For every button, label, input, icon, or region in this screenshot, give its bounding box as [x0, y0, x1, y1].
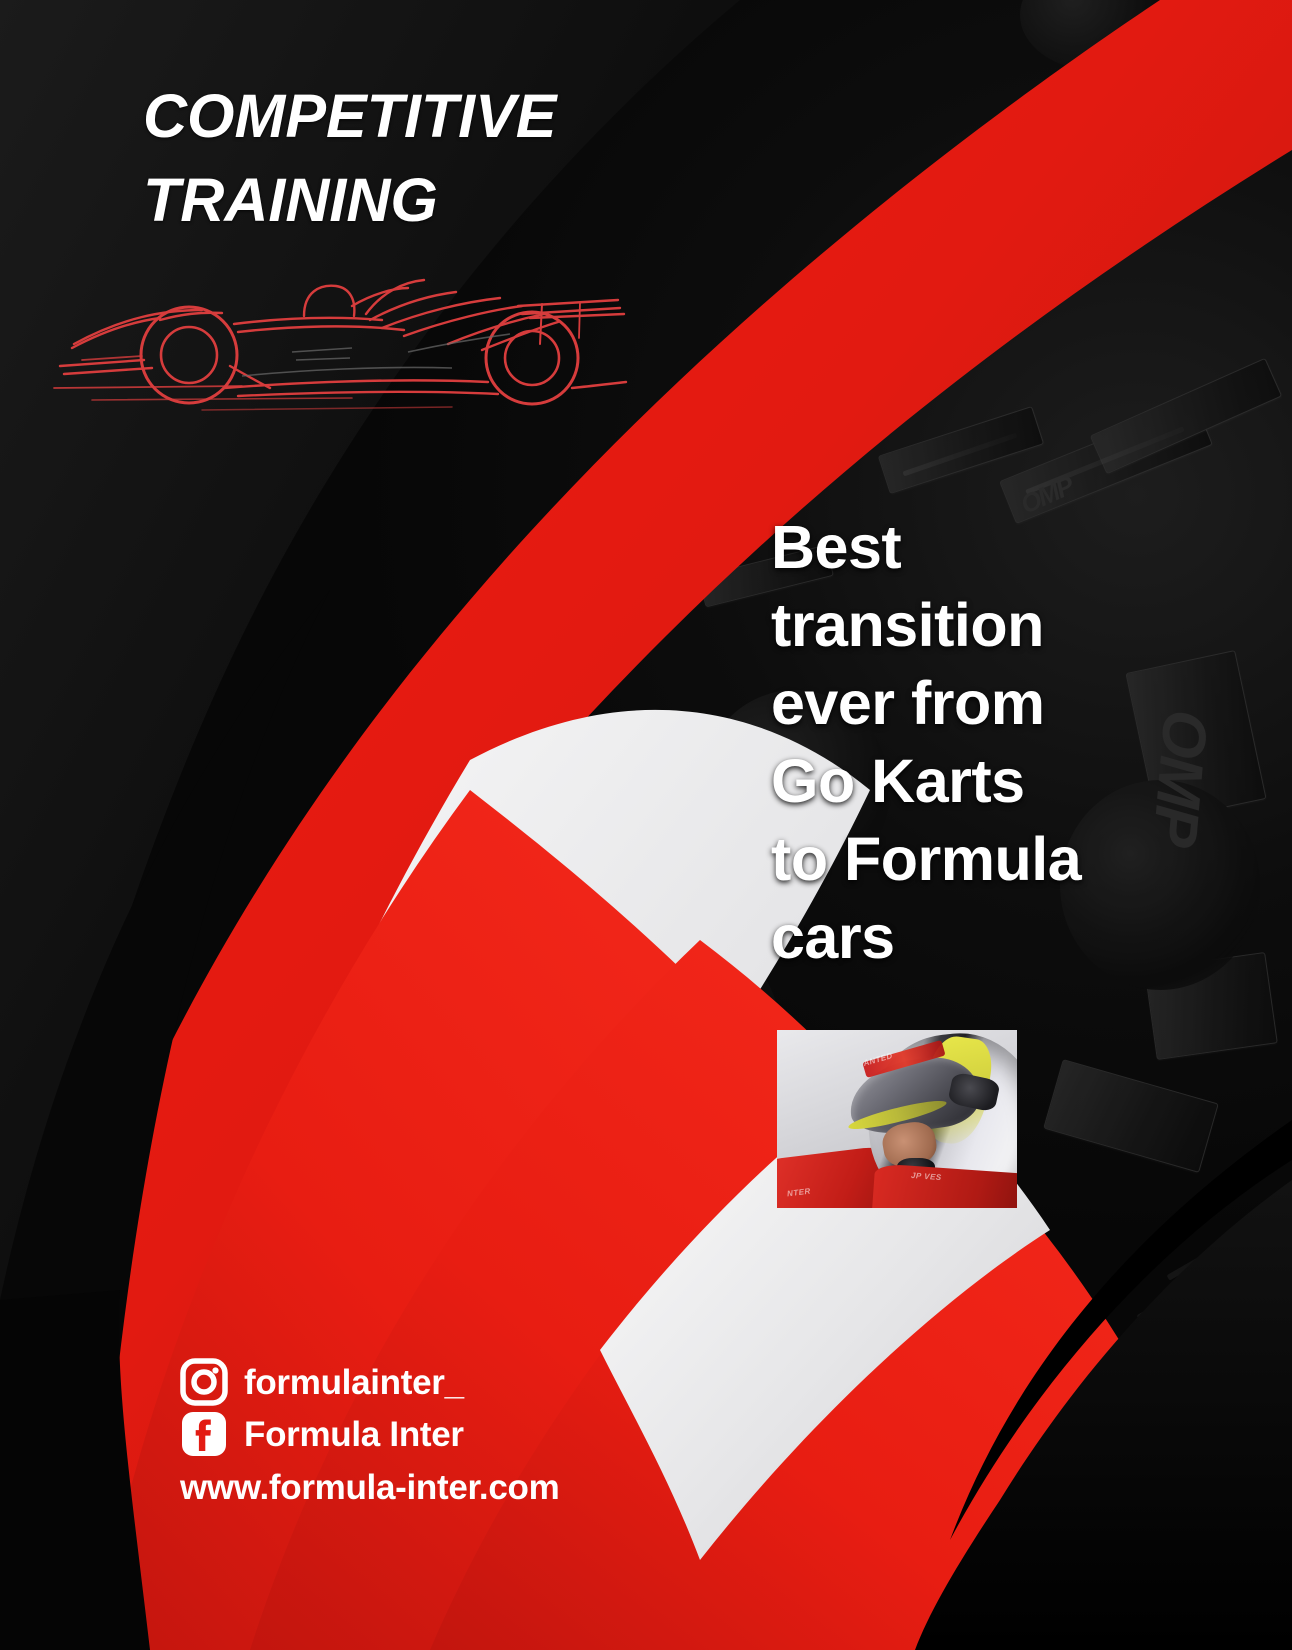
social-row-instagram[interactable]: formulainter_: [180, 1358, 700, 1406]
social-row-facebook[interactable]: Formula Inter: [180, 1410, 700, 1458]
contact-block: formulainter_ Formula Inter www.formula-…: [180, 1358, 700, 1508]
instagram-handle[interactable]: formulainter_: [244, 1365, 464, 1400]
formula-car-icon: [52, 248, 632, 423]
headline: Best transition ever from Go Karts to Fo…: [771, 508, 1116, 976]
headline-line-2: transition: [771, 586, 1116, 664]
headline-line-1: Best: [771, 508, 1116, 586]
instagram-icon[interactable]: [180, 1358, 228, 1406]
driver-helmet-photo: ANTED NTER JP VES: [777, 1030, 1017, 1208]
website-url[interactable]: www.formula-inter.com: [180, 1468, 700, 1508]
page-title-line-2: TRAINING: [143, 158, 763, 242]
headline-line-3: ever from: [771, 664, 1116, 742]
facebook-handle[interactable]: Formula Inter: [244, 1417, 464, 1452]
page-title: COMPETITIVE TRAINING: [143, 74, 763, 242]
poster-root: OMP OMP: [0, 0, 1292, 1650]
page-title-line-1: COMPETITIVE: [143, 74, 763, 158]
headline-line-5: to Formula: [771, 820, 1116, 898]
headline-line-6: cars: [771, 898, 1116, 976]
headline-line-4: Go Karts: [771, 742, 1116, 820]
facebook-icon[interactable]: [180, 1410, 228, 1458]
